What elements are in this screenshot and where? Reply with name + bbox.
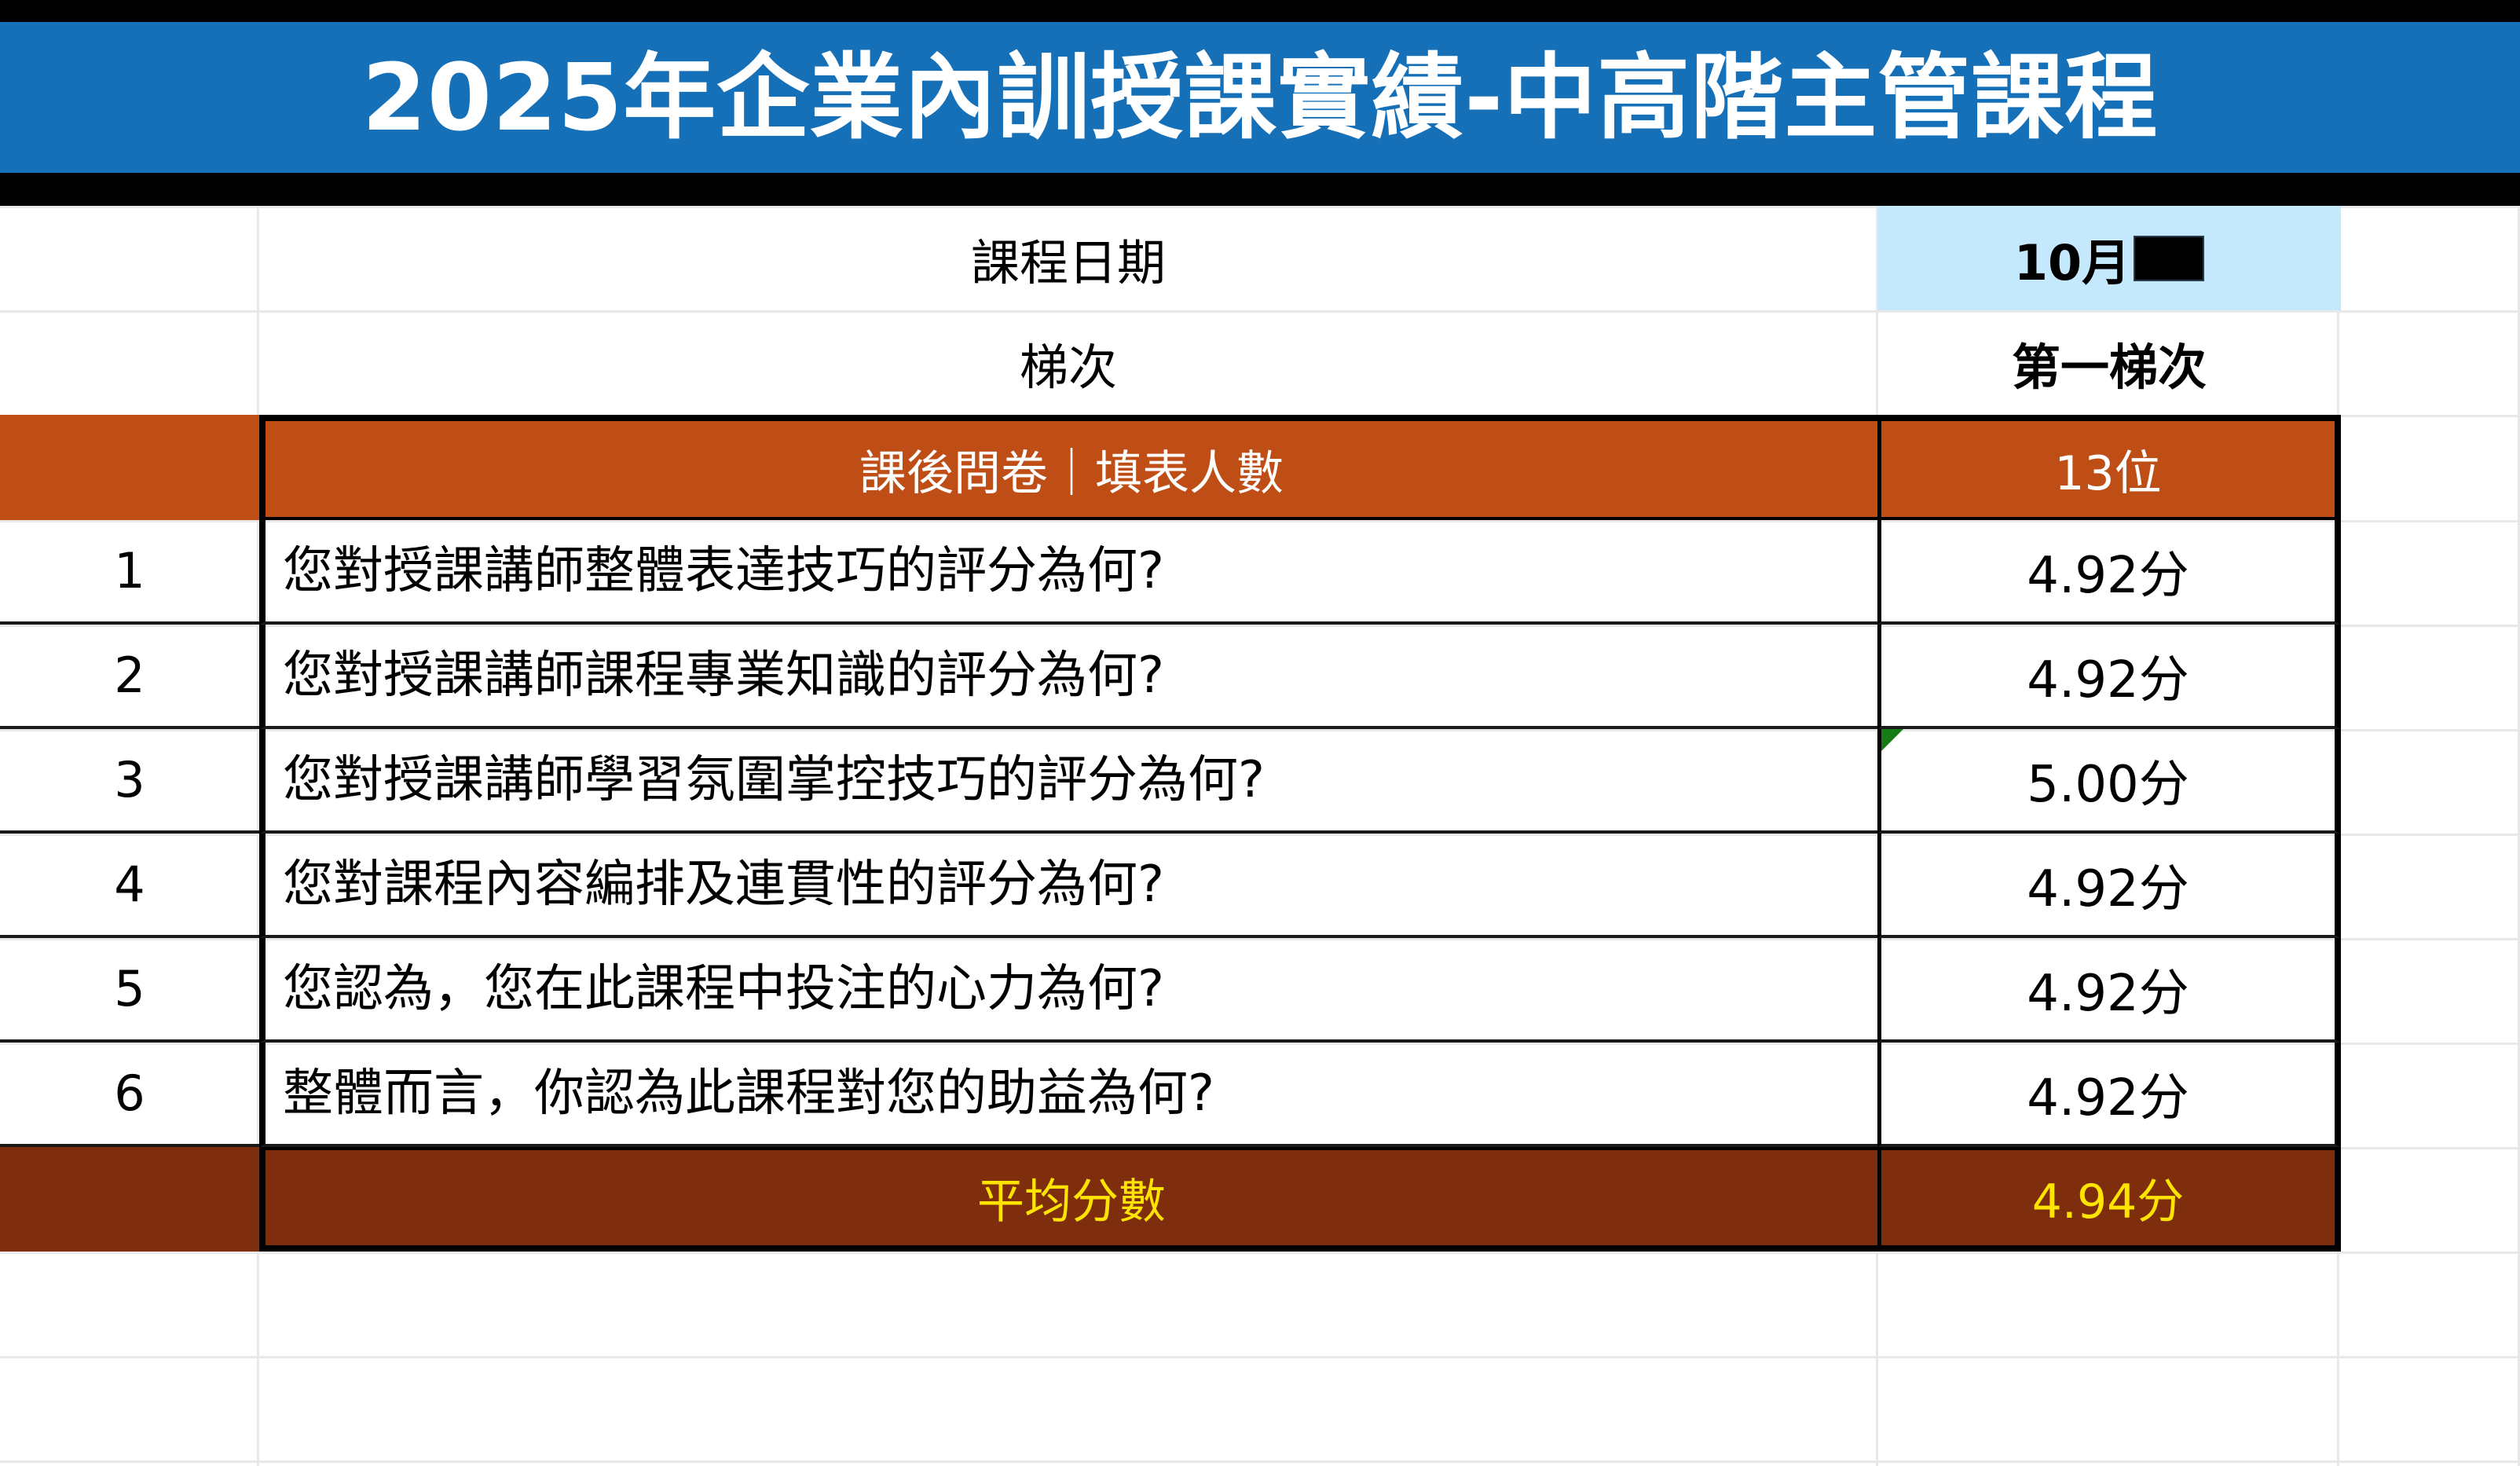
respondent-count: 13位 xyxy=(1877,415,2341,520)
question-score: 4.92分 xyxy=(1877,938,2341,1043)
separator-black-band xyxy=(0,173,2520,206)
table-row: 2 您對授課講師課程專業知識的評分為何? 4.92分 xyxy=(0,625,2341,729)
table-header-band: 課後問卷｜填表人數 13位 xyxy=(0,415,2341,520)
row-number-cell xyxy=(0,1147,259,1252)
error-marker-triangle-icon xyxy=(1881,729,1903,751)
question-text: 您對課程內容編排及連貫性的評分為何? xyxy=(259,834,1877,938)
row-number-cell xyxy=(0,310,259,415)
survey-header-label: 課後問卷｜填表人數 xyxy=(259,415,1877,520)
question-number: 2 xyxy=(0,625,259,729)
question-score: 4.92分 xyxy=(1877,625,2341,729)
course-date-label: 課程日期 xyxy=(259,206,1877,310)
question-text: 整體而言，你認為此課程對您的助益為何? xyxy=(259,1043,1877,1147)
redaction-block-icon xyxy=(2134,236,2204,281)
question-score: 4.92分 xyxy=(1877,1043,2341,1147)
top-black-band xyxy=(0,0,2520,22)
row-number-cell xyxy=(0,415,259,520)
spreadsheet-canvas: 課程日期 10月 梯次 第一梯次 課後問卷｜填表人數 13位 1 您對授課講師整… xyxy=(0,206,2520,1466)
course-date-value: 10月 xyxy=(1877,206,2341,310)
question-number: 5 xyxy=(0,938,259,1043)
question-score: 4.92分 xyxy=(1877,520,2341,625)
question-text: 您對授課講師課程專業知識的評分為何? xyxy=(259,625,1877,729)
table-row-session: 梯次 第一梯次 xyxy=(0,310,2341,415)
table-row-course-date: 課程日期 10月 xyxy=(0,206,2341,310)
table-row: 6 整體而言，你認為此課程對您的助益為何? 4.92分 xyxy=(0,1043,2341,1147)
question-number: 1 xyxy=(0,520,259,625)
average-score: 4.94分 xyxy=(1877,1147,2341,1252)
page-title: 2025年企業內訓授課實績-中高階主管課程 xyxy=(362,51,2158,144)
table-footer-band: 平均分數 4.94分 xyxy=(0,1147,2341,1252)
course-date-month: 10月 xyxy=(2014,223,2130,294)
question-number: 4 xyxy=(0,834,259,938)
row-number-cell xyxy=(0,206,259,310)
question-text: 您對授課講師學習氛圍掌控技巧的評分為何? xyxy=(259,729,1877,834)
question-score: 5.00分 xyxy=(2027,744,2189,816)
question-score-cell: 5.00分 xyxy=(1877,729,2341,834)
session-value: 第一梯次 xyxy=(1877,310,2341,415)
gridline-h xyxy=(0,1356,2520,1358)
table-row: 5 您認為，您在此課程中投注的心力為何? 4.92分 xyxy=(0,938,2341,1043)
question-number: 6 xyxy=(0,1043,259,1147)
gridline-h xyxy=(0,1252,2520,1254)
question-number: 3 xyxy=(0,729,259,834)
session-label: 梯次 xyxy=(259,310,1877,415)
table-row: 3 您對授課講師學習氛圍掌控技巧的評分為何? 5.00分 xyxy=(0,729,2341,834)
title-banner: 2025年企業內訓授課實績-中高階主管課程 xyxy=(0,22,2520,173)
question-text: 您認為，您在此課程中投注的心力為何? xyxy=(259,938,1877,1043)
question-text: 您對授課講師整體表達技巧的評分為何? xyxy=(259,520,1877,625)
table-row: 1 您對授課講師整體表達技巧的評分為何? 4.92分 xyxy=(0,520,2341,625)
question-score: 4.92分 xyxy=(1877,834,2341,938)
average-label: 平均分數 xyxy=(259,1147,1877,1252)
table-row: 4 您對課程內容編排及連貫性的評分為何? 4.92分 xyxy=(0,834,2341,938)
gridline-h xyxy=(0,1461,2520,1463)
